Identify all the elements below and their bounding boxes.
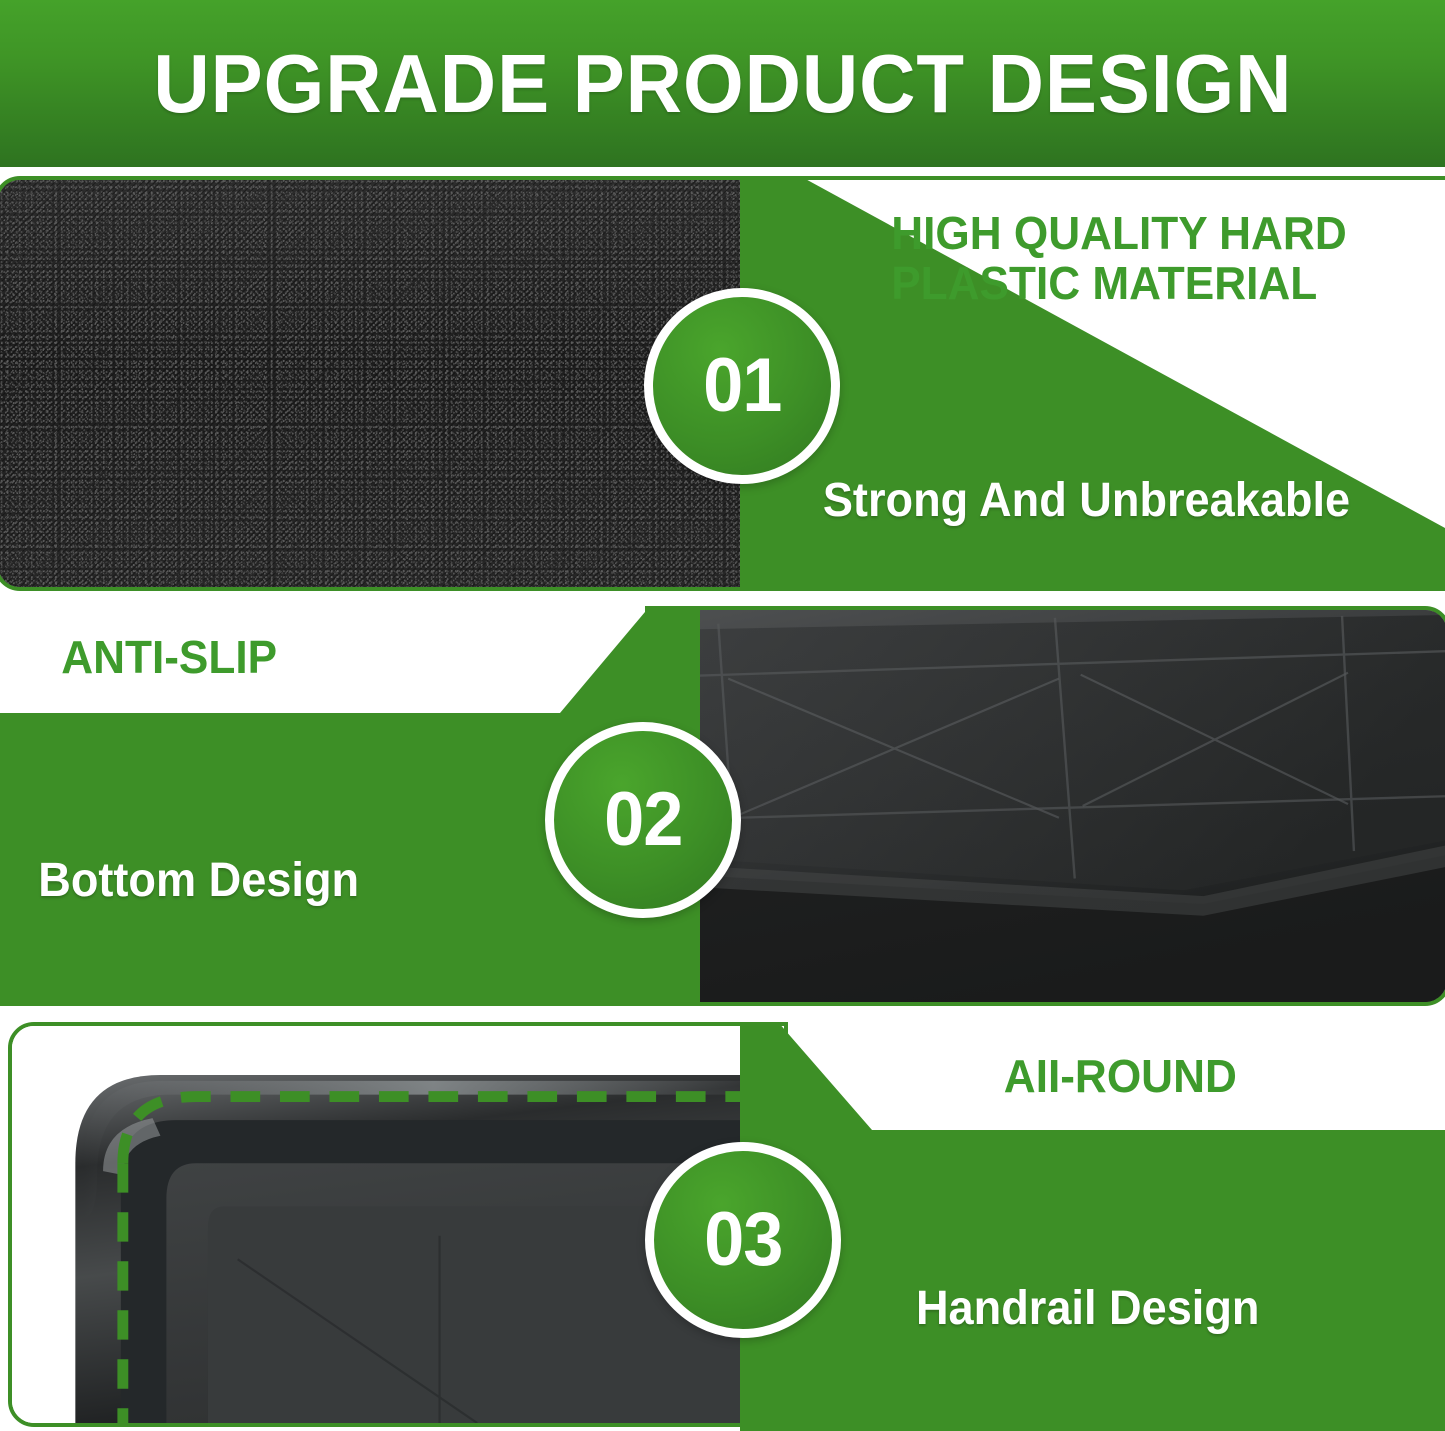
feature-03-number: 03 <box>704 1202 782 1278</box>
feature-02-number-badge: 02 <box>545 722 741 918</box>
feature-03-number-badge: 03 <box>645 1142 841 1338</box>
feature-01-subtitle: Strong And Unbreakable <box>823 476 1350 526</box>
feature-02-number: 02 <box>604 782 682 858</box>
feature-01-heading: HIGH QUALITY HARD PLASTIC MATERIAL <box>891 209 1429 308</box>
feature-01-number: 01 <box>703 348 781 424</box>
feature-02-heading: ANTI-SLIP <box>61 633 599 683</box>
feature-panel-01: HIGH QUALITY HARD PLASTIC MATERIAL Stron… <box>0 176 1445 591</box>
header-banner: UPGRADE PRODUCT DESIGN <box>0 0 1445 167</box>
feature-01-number-badge: 01 <box>644 288 840 484</box>
feature-02-subtitle: Bottom Design <box>38 856 359 906</box>
feature-panel-02: ANTI-SLIP Bottom Design 02 <box>0 606 1445 1006</box>
feature-panel-03: AII-ROUND Handrail Design 03 <box>0 1022 1445 1431</box>
tray-bottom-photo <box>649 610 1445 1002</box>
infographic-page: UPGRADE PRODUCT DESIGN HIGH QUALITY HARD… <box>0 0 1445 1431</box>
feature-03-heading: AII-ROUND <box>1004 1052 1426 1102</box>
page-title: UPGRADE PRODUCT DESIGN <box>153 42 1292 125</box>
feature-02-image <box>645 606 1445 1006</box>
feature-03-subtitle: Handrail Design <box>916 1284 1259 1334</box>
